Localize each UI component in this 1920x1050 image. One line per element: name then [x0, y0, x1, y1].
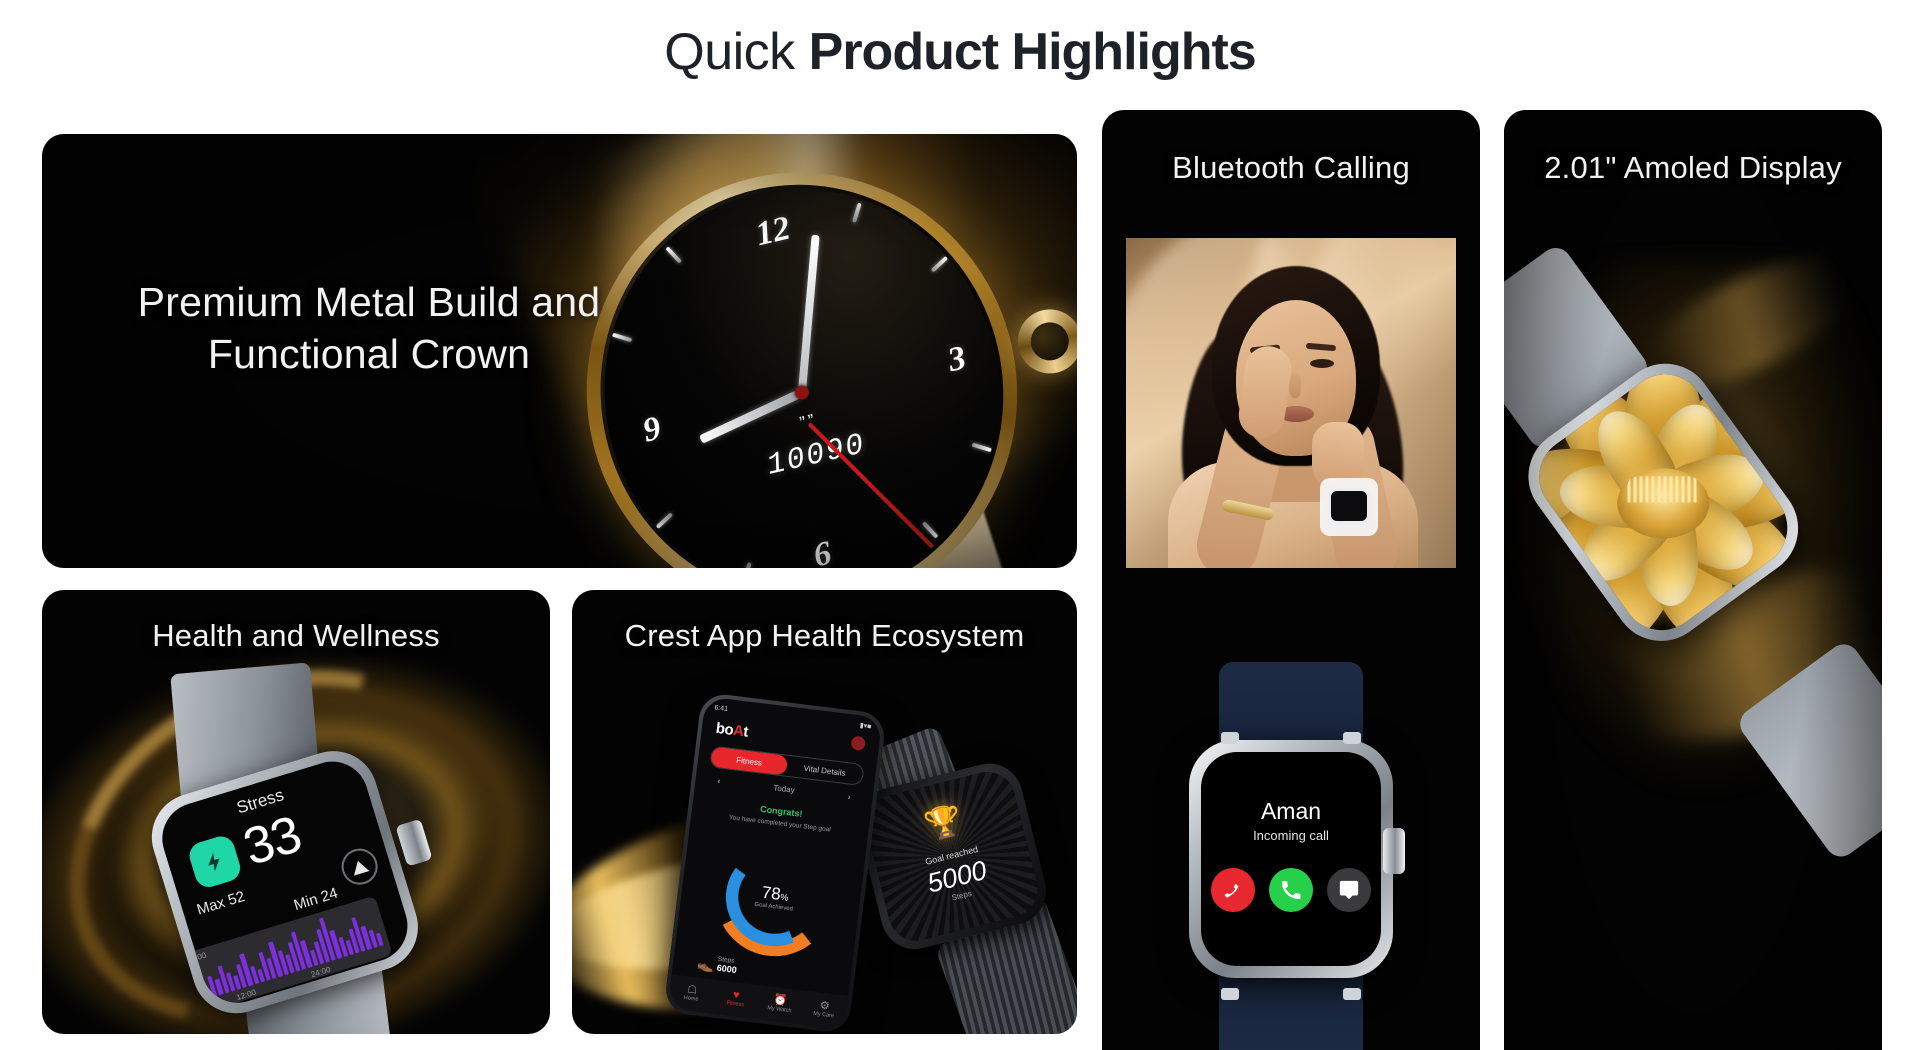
app-screen: 6:41 ▮▾■ boAt Fitness Vital Details Toda… — [668, 696, 883, 1029]
vignette — [1504, 110, 1882, 1050]
nav-home[interactable]: ☖Home — [668, 974, 716, 1013]
crest-app-phone-mockup: 6:41 ▮▾■ boAt Fitness Vital Details Toda… — [663, 692, 887, 1034]
watch-crown — [1383, 828, 1405, 874]
tab-vital-details[interactable]: Vital Details — [786, 756, 864, 785]
nav-home-label: Home — [683, 995, 698, 1003]
nav-fitness[interactable]: ♥Fitness — [712, 980, 760, 1019]
page-title-bold: Product Highlights — [809, 23, 1256, 81]
card-title-premium-metal-build: Premium Metal Build and Functional Crown — [114, 276, 624, 380]
decline-call-button[interactable] — [1211, 868, 1255, 912]
tab-fitness[interactable]: Fitness — [710, 747, 788, 776]
shoe-icon: 👞 — [696, 955, 715, 974]
page-title-light: Quick — [664, 23, 794, 81]
app-brand-logo: boAt — [715, 720, 749, 741]
up-arrow-icon — [337, 844, 382, 889]
worn-watch — [1328, 488, 1370, 524]
status-time: 6:41 — [714, 704, 728, 713]
stress-bolt-icon — [186, 833, 243, 890]
nav-my-watch[interactable]: ⏰My Watch — [756, 985, 804, 1024]
highlight-card-bluetooth-calling[interactable]: Aman Incoming call Blu — [1102, 110, 1480, 1050]
avatar[interactable] — [850, 735, 866, 751]
app-bottom-nav[interactable]: ☖Home ♥Fitness ⏰My Watch ⚙My Care — [668, 974, 849, 1029]
caller-name: Aman — [1201, 798, 1381, 825]
steps-value: 6000 — [716, 963, 737, 975]
card-title-crest-app-health-ecosystem: Crest App Health Ecosystem — [572, 618, 1077, 654]
card-title-health-and-wellness: Health and Wellness — [42, 618, 550, 654]
highlight-card-crest-app-health-ecosystem[interactable]: 🏆 Goal reached 5000 Steps 6:41 ▮▾■ boAt — [572, 590, 1077, 1034]
page-title: Quick Product Highlights — [0, 18, 1920, 86]
highlight-card-amoled-display[interactable]: 2.01" Amoled Display — [1504, 110, 1882, 1050]
call-action-buttons[interactable] — [1201, 868, 1381, 912]
highlight-card-health-and-wellness[interactable]: Stress 33 Max 52 Min 24 100 12:00 24:00 — [42, 590, 550, 1034]
nav-my-care-label: My Care — [813, 1011, 834, 1019]
call-status: Incoming call — [1201, 828, 1381, 843]
goal-screen: 🏆 Goal reached 5000 Steps — [860, 766, 1043, 946]
goal-percent-unit: % — [780, 892, 789, 903]
highlight-card-premium-metal-build[interactable]: 12 3 6 9 ”” 10090 Premium Metal Build an… — [42, 134, 1077, 568]
card-title-amoled-display: 2.01" Amoled Display — [1504, 150, 1882, 186]
highlights-grid: 12 3 6 9 ”” 10090 Premium Metal Build an… — [42, 134, 1882, 1034]
model-photo — [1126, 238, 1456, 568]
message-button[interactable] — [1327, 868, 1371, 912]
nav-fitness-label: Fitness — [726, 1000, 744, 1008]
card-title-bluetooth-calling: Bluetooth Calling — [1102, 150, 1480, 186]
status-icons: ▮▾■ — [859, 721, 871, 730]
stress-max: Max 52 — [195, 888, 247, 919]
call-watch-product-image: Aman Incoming call — [1165, 670, 1417, 1050]
incoming-call-screen: Aman Incoming call — [1201, 752, 1381, 966]
product-highlights-page: Quick Product Highlights — [0, 0, 1920, 1050]
nav-my-care[interactable]: ⚙My Care — [800, 991, 848, 1030]
accept-call-button[interactable] — [1269, 868, 1313, 912]
steps-summary: Steps 6000 — [716, 956, 738, 975]
